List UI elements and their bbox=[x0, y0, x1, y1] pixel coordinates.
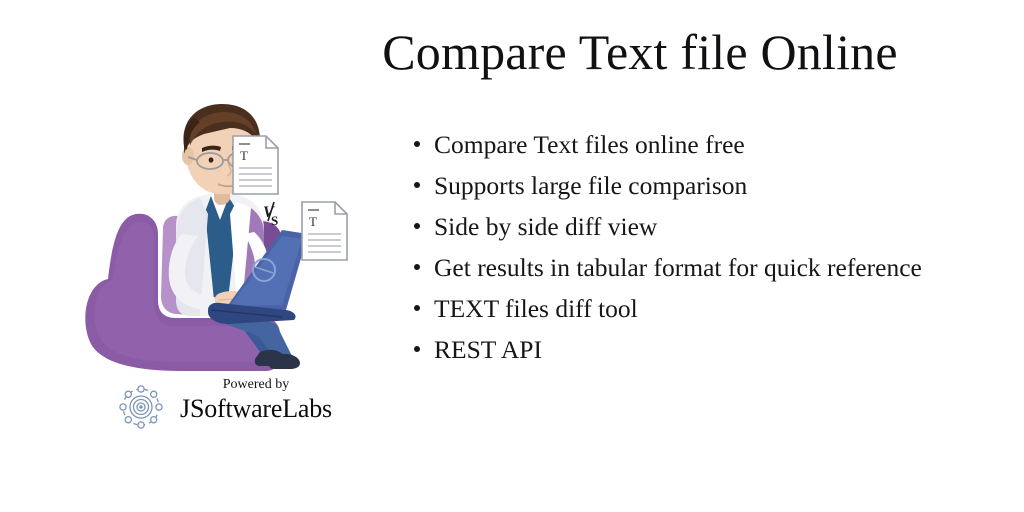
powered-by-label: Powered by bbox=[172, 376, 340, 394]
list-item: REST API bbox=[412, 329, 952, 370]
svg-text:T: T bbox=[309, 214, 317, 229]
brand-name: JSoftwareLabs bbox=[172, 394, 340, 424]
list-item: Compare Text files online free bbox=[412, 124, 952, 165]
hero-illustration: T V S T bbox=[68, 84, 368, 374]
bullet-icon bbox=[414, 346, 420, 352]
list-item: TEXT files diff tool bbox=[412, 288, 952, 329]
svg-text:T: T bbox=[240, 148, 248, 163]
bullet-icon bbox=[414, 305, 420, 311]
text-file-icon-left: T bbox=[233, 136, 278, 194]
feature-label: Supports large file comparison bbox=[434, 171, 747, 200]
text-file-icon-right: T bbox=[302, 202, 347, 260]
brand-text: Powered by JSoftwareLabs bbox=[172, 376, 340, 424]
bullet-icon bbox=[414, 141, 420, 147]
svg-text:S: S bbox=[271, 213, 278, 228]
feature-label: Compare Text files online free bbox=[434, 130, 745, 159]
list-item: Supports large file comparison bbox=[412, 165, 952, 206]
feature-label: TEXT files diff tool bbox=[434, 294, 638, 323]
page-title: Compare Text file Online bbox=[300, 24, 980, 82]
feature-label: Side by side diff view bbox=[434, 212, 657, 241]
bullet-icon bbox=[414, 264, 420, 270]
feature-label: Get results in tabular format for quick … bbox=[434, 253, 922, 282]
network-atom-icon bbox=[114, 380, 168, 434]
slide-canvas: Compare Text file Online bbox=[0, 0, 1024, 512]
feature-list: Compare Text files online free Supports … bbox=[412, 124, 952, 370]
bullet-icon bbox=[414, 182, 420, 188]
list-item: Side by side diff view bbox=[412, 206, 952, 247]
brand-block: Powered by JSoftwareLabs bbox=[110, 376, 340, 438]
bullet-icon bbox=[414, 223, 420, 229]
list-item: Get results in tabular format for quick … bbox=[412, 247, 952, 288]
feature-label: REST API bbox=[434, 335, 542, 364]
